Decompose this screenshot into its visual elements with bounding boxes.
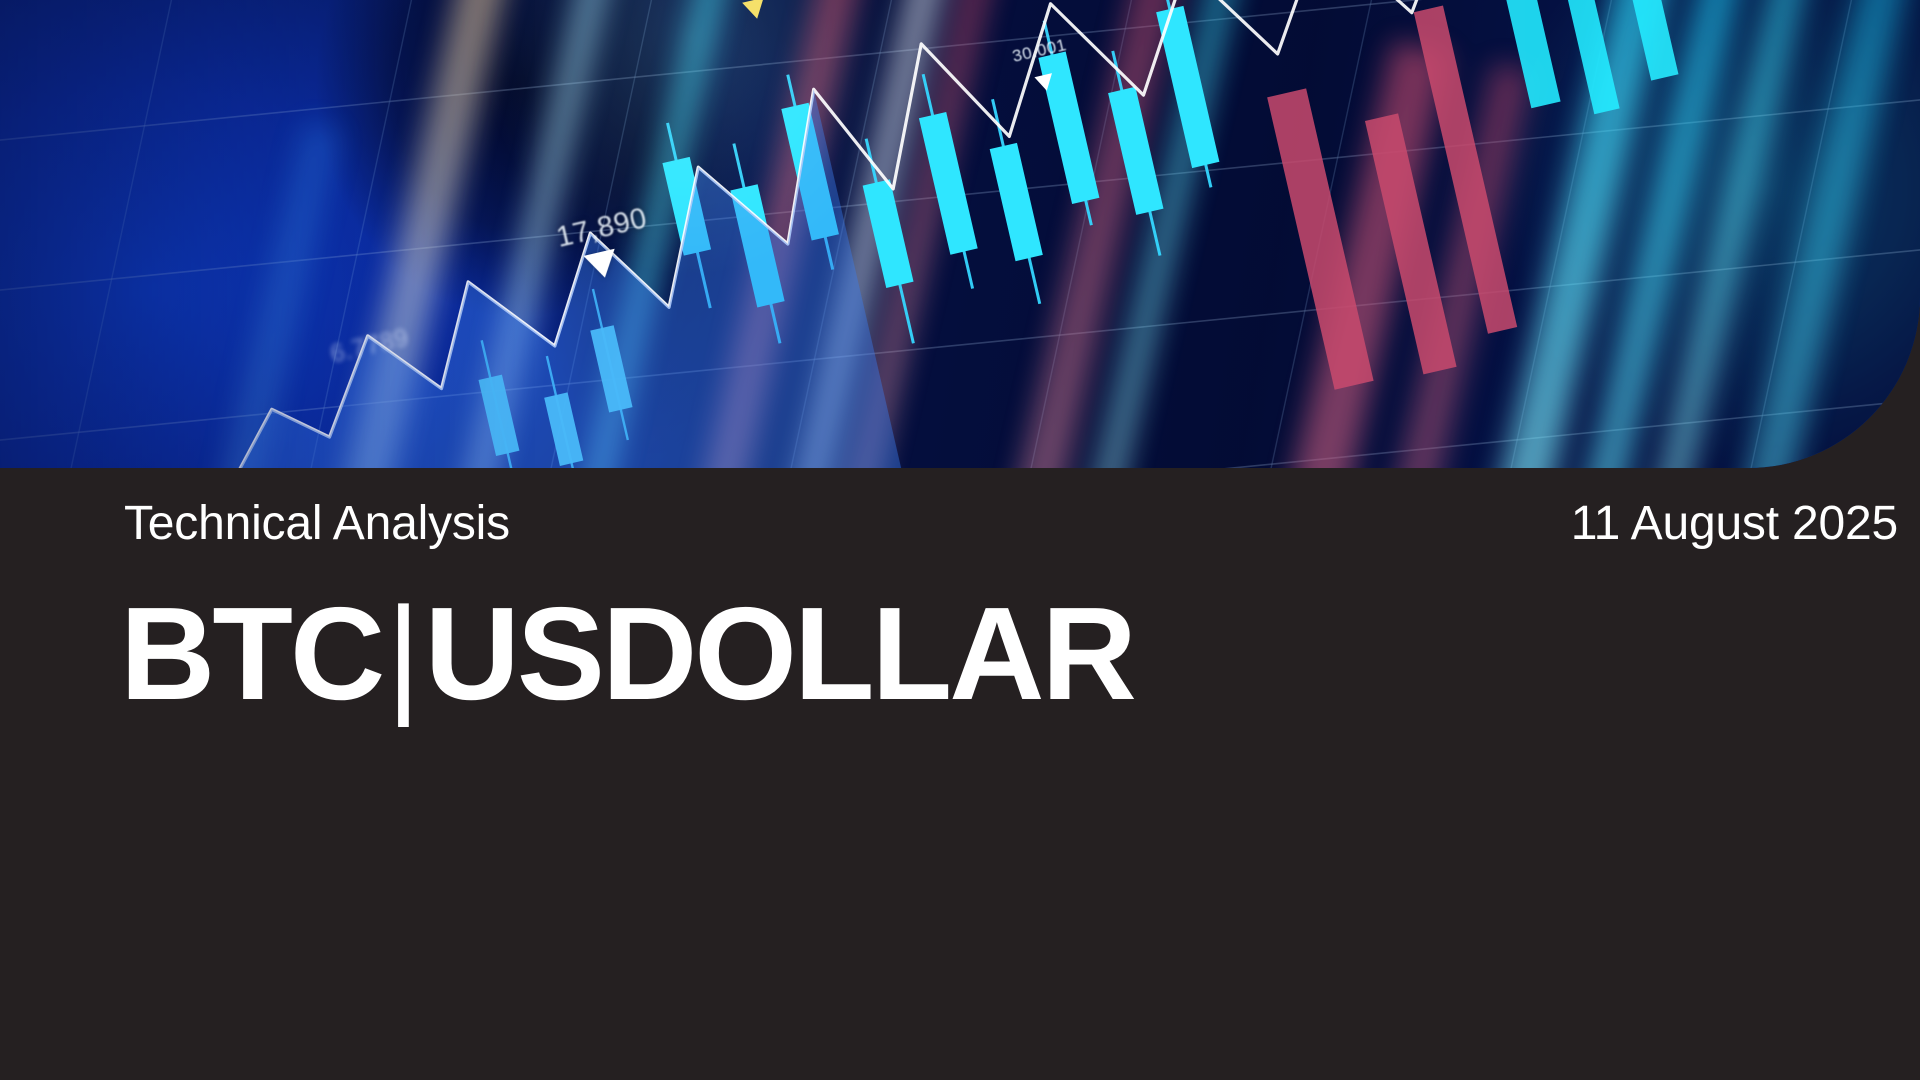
- title-block: Technical Analysis 11 August 2025 BTC|US…: [0, 468, 1920, 1080]
- slide-root: 6.7789 17,890 30.001 Technical Analysis …: [0, 0, 1920, 1080]
- meta-row: Technical Analysis 11 August 2025: [124, 500, 1898, 548]
- eyebrow-label: Technical Analysis: [124, 500, 510, 548]
- page-title: BTC|USDOLLAR: [120, 588, 1134, 720]
- hero-banner-image: 6.7789 17,890 30.001: [0, 0, 1920, 468]
- headline-separator: |: [382, 580, 424, 727]
- publication-date: 11 August 2025: [1571, 500, 1898, 548]
- hero-left-blur: [0, 0, 1920, 468]
- headline-quote-asset: USDOLLAR: [425, 580, 1134, 727]
- headline-base-asset: BTC: [120, 580, 382, 727]
